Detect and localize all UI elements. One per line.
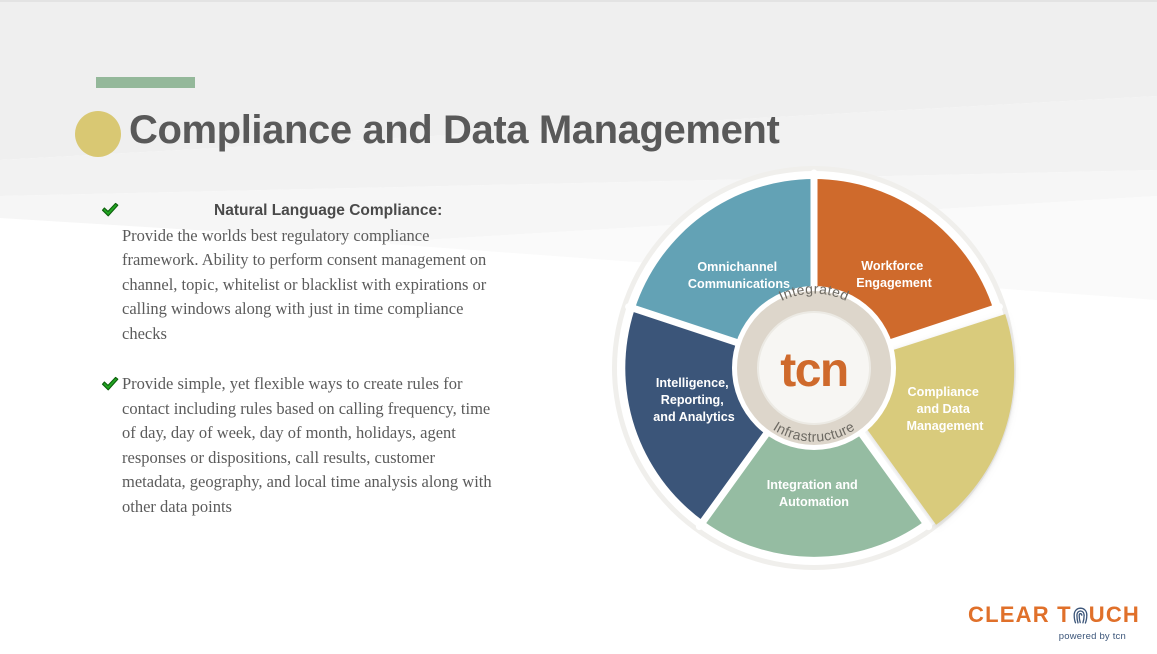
logo-tagline: powered by tcn [968,631,1128,642]
list-item: Natural Language Compliance: Provide the… [100,198,500,346]
list-item-lead: Natural Language Compliance: [214,202,442,219]
title-bullet-dot [75,111,121,157]
clear-touch-logo: CLEAR T UCH powered by tcn [968,603,1128,647]
list-item-body: Provide the worlds best regulatory compl… [122,226,486,343]
logo-word-touch-post: UCH [1089,602,1140,627]
fingerprint-icon [1072,606,1089,630]
slide-canvas: Compliance and Data Management Natural L… [0,0,1157,654]
green-check-icon [100,200,120,220]
list-item-body: Provide simple, yet flexible ways to cre… [122,374,492,516]
list-item-text: Provide simple, yet flexible ways to cre… [100,372,500,519]
list-item: Provide simple, yet flexible ways to cre… [100,372,500,519]
label-intelligence-reporting-analytics: Intelligence, Reporting, and Analytics [653,376,734,424]
logo-word-clear: CLEAR [968,602,1050,627]
tcn-brand-mark: tcn [780,344,848,397]
logo-word-touch-pre: T [1057,602,1072,627]
list-item-text: Natural Language Compliance: Provide the… [100,198,500,346]
wheel-svg: Integrated Infrastructure tcn Workforce … [608,165,1028,577]
tcn-wheel-diagram: Integrated Infrastructure tcn Workforce … [608,165,1028,577]
bullet-list: Natural Language Compliance: Provide the… [100,198,500,541]
label-compliance-and-data-management: Compliance and Data Management [907,385,985,433]
title-accent-bar [96,77,195,88]
logo-wordmark: CLEAR T UCH [968,603,1128,630]
page-title: Compliance and Data Management [129,108,779,153]
background-top-rule [0,0,1157,2]
green-check-icon [100,374,120,394]
